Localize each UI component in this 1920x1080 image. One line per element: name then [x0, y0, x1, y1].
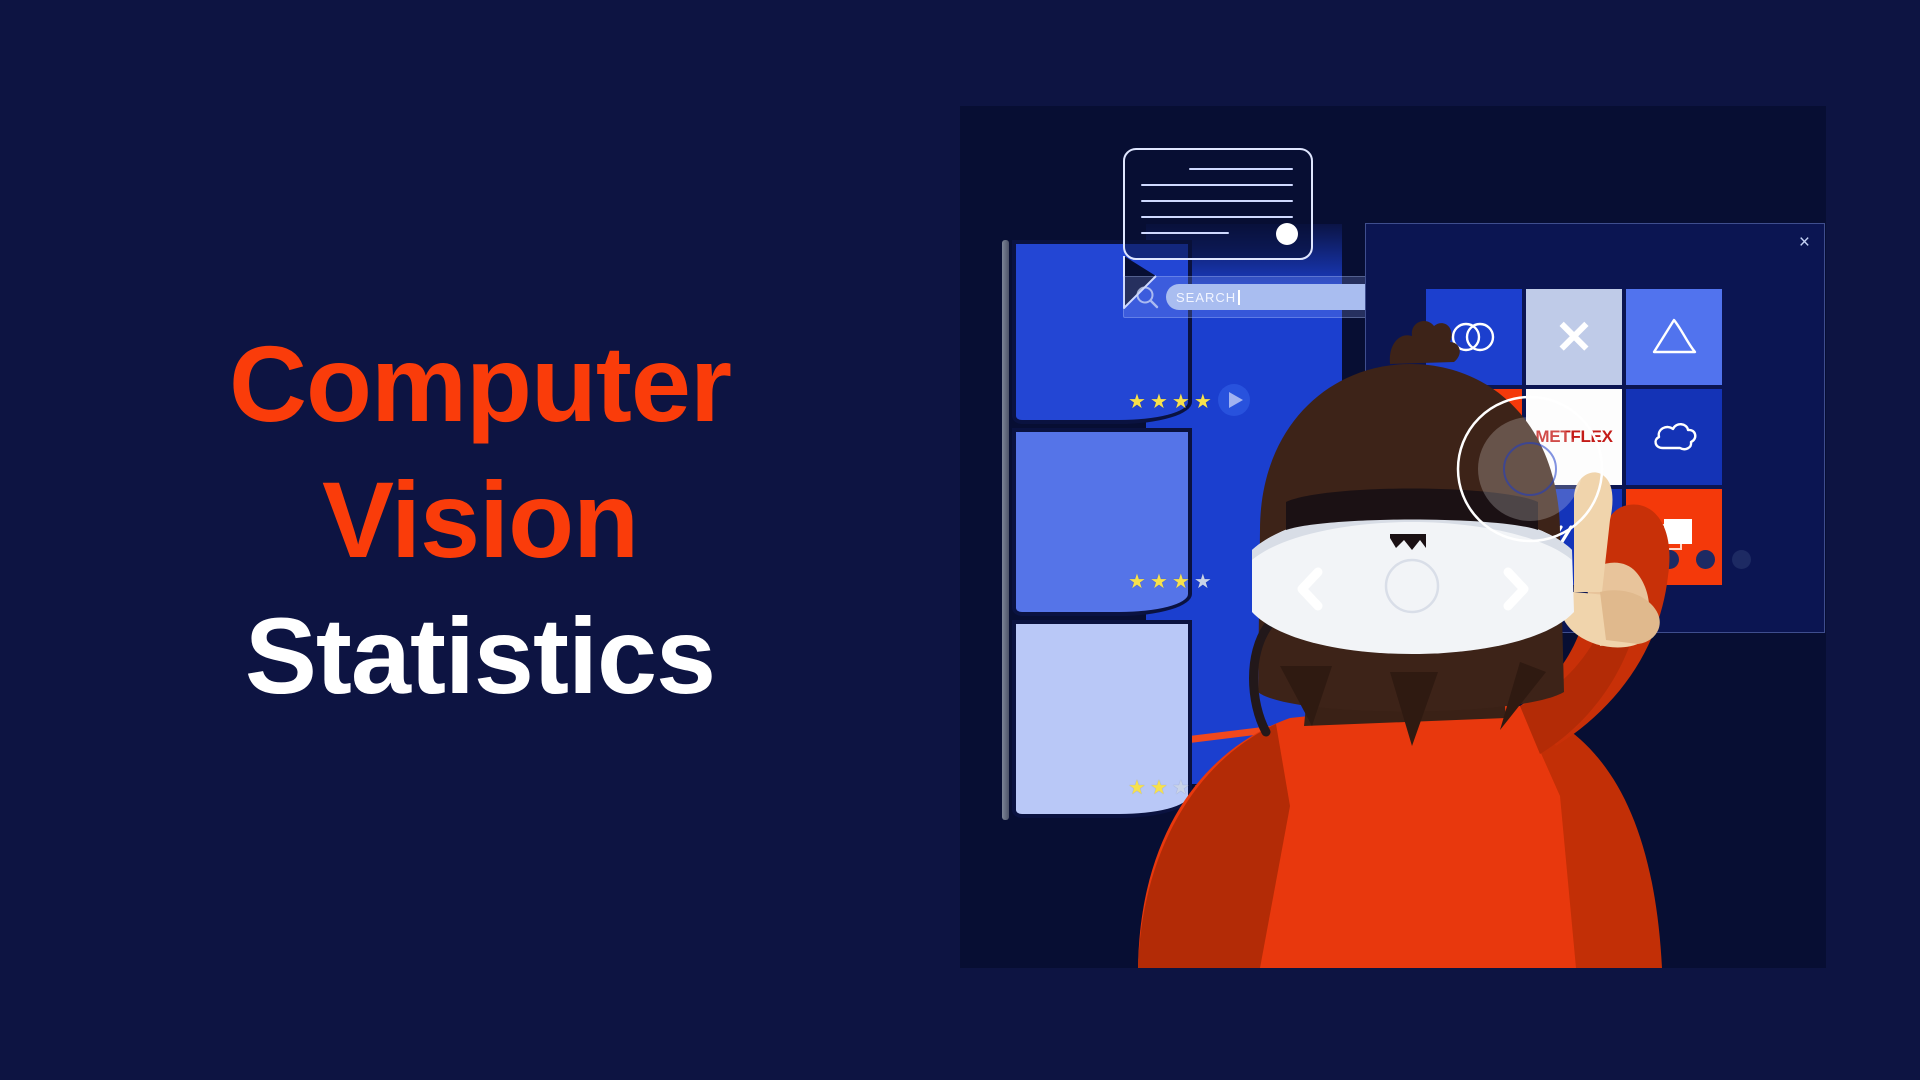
- page-title: Computer Vision Statistics: [0, 330, 960, 738]
- title-line-1: Computer: [0, 330, 960, 438]
- hero-illustration: ★ ★ ★ ★ ★ ★ ★ ★ ★ ★ ★ ★: [960, 106, 1826, 968]
- title-line-3: Statistics: [0, 602, 960, 710]
- person-with-vr-headset: [960, 106, 1826, 968]
- touch-ripple: [1455, 394, 1605, 544]
- title-line-2: Vision: [0, 466, 960, 574]
- play-badge: [1218, 384, 1250, 416]
